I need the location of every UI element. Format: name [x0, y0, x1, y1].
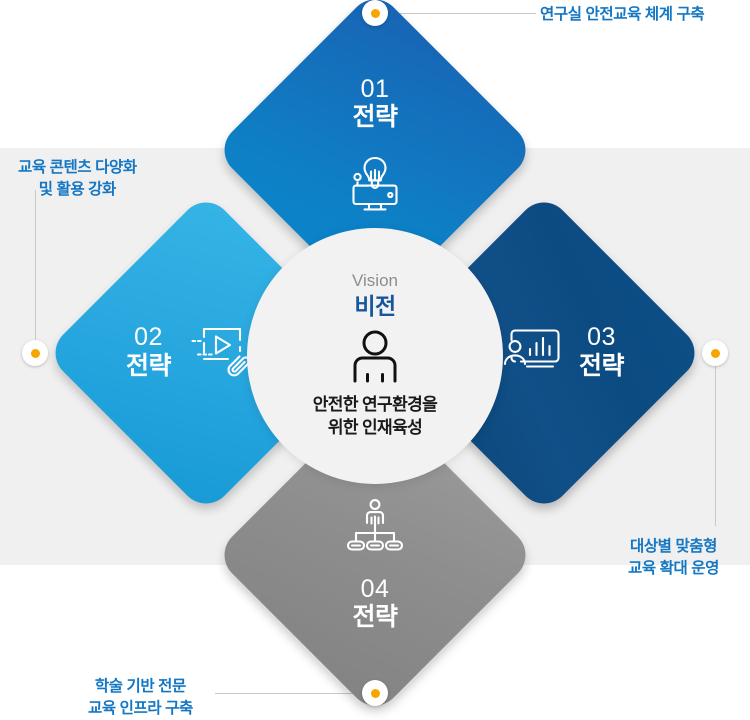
strategy-01-text: 01 전략: [352, 76, 397, 134]
monitor-lightbulb-icon: [342, 154, 408, 221]
strategy-03-number: 03: [587, 324, 616, 350]
org-chart-icon: [344, 497, 406, 558]
strategy-04-label: 전략: [352, 602, 397, 633]
connector-line-right: [715, 366, 716, 526]
connector-dot-right[interactable]: [702, 340, 728, 366]
callout-03-line2: 교육 확대 운영: [628, 558, 719, 580]
strategy-03-text: 03 전략: [579, 324, 624, 382]
strategy-02-label: 전략: [126, 351, 171, 382]
callout-02-line2: 및 활용 강화: [18, 179, 137, 201]
strategy-01-number: 01: [361, 76, 390, 102]
connector-line-top: [388, 13, 536, 14]
infographic-canvas: 01 전략 02 전략: [0, 0, 750, 720]
connector-dot-left[interactable]: [22, 340, 48, 366]
connector-dot-top[interactable]: [362, 0, 388, 26]
vision-description-line1: 안전한 연구환경을: [313, 394, 437, 417]
callout-01-line1: 연구실 안전교육 체계 구축: [540, 4, 704, 26]
callout-strategy-04: 학술 기반 전문 교육 인프라 구축: [88, 676, 193, 720]
callout-04-line2: 교육 인프라 구축: [88, 698, 193, 720]
connector-dot-bottom[interactable]: [362, 680, 388, 706]
vision-ko-label: 비전: [354, 293, 395, 321]
callout-strategy-02: 교육 콘텐츠 다양화 및 활용 강화: [18, 157, 137, 202]
vision-en-label: Vision: [352, 272, 398, 291]
connector-line-bottom: [215, 693, 365, 694]
strategy-03-label: 전략: [579, 351, 624, 382]
callout-02-line1: 교육 콘텐츠 다양화: [18, 157, 137, 179]
strategy-04-text: 04 전략: [352, 576, 397, 634]
video-attachment-icon: [187, 323, 251, 384]
person-icon: [348, 329, 402, 390]
callout-03-line1: 대상별 맞춤형: [628, 536, 719, 558]
vision-circle: Vision 비전 안전한 연구환경을 위한 인재육성: [247, 228, 503, 484]
vision-description-line2: 위한 인재육성: [328, 417, 422, 440]
strategy-02-number: 02: [134, 324, 163, 350]
callout-04-line1: 학술 기반 전문: [88, 676, 193, 698]
strategy-01-label: 전략: [352, 102, 397, 133]
strategy-04-number: 04: [361, 576, 390, 602]
callout-strategy-03: 대상별 맞춤형 교육 확대 운영: [628, 536, 719, 581]
strategy-02-text: 02 전략: [126, 324, 171, 382]
connector-line-left: [35, 190, 36, 342]
callout-strategy-01: 연구실 안전교육 체계 구축: [540, 4, 704, 26]
person-barchart-icon: [499, 323, 563, 384]
